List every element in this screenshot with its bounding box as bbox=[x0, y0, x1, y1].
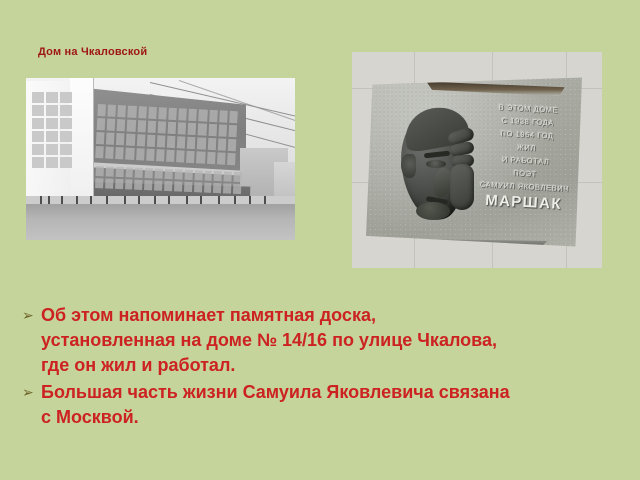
bullet-list: ➢ Об этом напоминает памятная доска, уст… bbox=[22, 303, 622, 432]
list-item-text: Большая часть жизни Самуила Яковлевича с… bbox=[41, 380, 622, 430]
plaque-photo: В ЭТОМ ДОМЕ С 1938 ГОДА ПО 1964 ГОД ЖИЛ … bbox=[352, 52, 602, 268]
window-grid-main bbox=[95, 104, 238, 165]
memorial-plaque: В ЭТОМ ДОМЕ С 1938 ГОДА ПО 1964 ГОД ЖИЛ … bbox=[366, 74, 582, 250]
arrow-bullet-icon: ➢ bbox=[22, 303, 41, 328]
street bbox=[26, 204, 295, 240]
plaque-surname: МАРШАК bbox=[473, 193, 574, 211]
building-photo-canvas bbox=[26, 78, 295, 240]
window-grid-left bbox=[32, 92, 72, 168]
building-photo bbox=[26, 78, 295, 240]
pedestrians bbox=[28, 194, 293, 204]
list-item: ➢ Большая часть жизни Самуила Яковлевича… bbox=[22, 380, 622, 430]
list-item: ➢ Об этом напоминает памятная доска, уст… bbox=[22, 303, 622, 378]
arrow-bullet-icon: ➢ bbox=[22, 380, 41, 405]
page-title: Дом на Чкаловской bbox=[38, 46, 147, 58]
plaque-inscription: В ЭТОМ ДОМЕ С 1938 ГОДА ПО 1964 ГОД ЖИЛ … bbox=[473, 99, 578, 211]
list-item-text: Об этом напоминает памятная доска, устан… bbox=[41, 303, 622, 378]
bas-relief-portrait bbox=[400, 108, 482, 220]
slide: Дом на Чкаловской bbox=[0, 0, 640, 480]
